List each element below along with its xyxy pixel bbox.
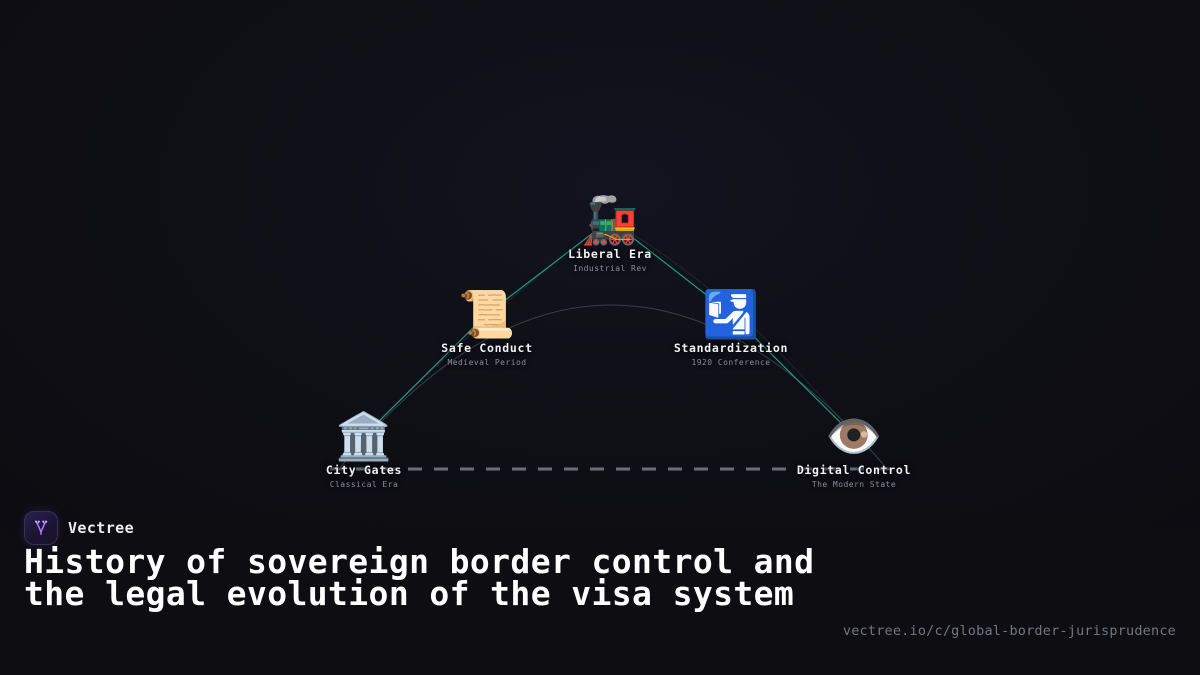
graph-node-title: Standardization bbox=[631, 343, 831, 355]
classical-building-icon: 🏛️ bbox=[264, 410, 464, 462]
graph-node-subtitle: 1920 Conference bbox=[631, 359, 831, 367]
graph-node-title: Safe Conduct bbox=[387, 343, 587, 355]
brand-name: Vectree bbox=[68, 519, 134, 537]
graph-node-subtitle: The Modern State bbox=[754, 481, 954, 489]
graph-node-city-gates[interactable]: 🏛️ City Gates Classical Era bbox=[264, 410, 464, 489]
brand-lockup[interactable]: Vectree bbox=[24, 511, 134, 545]
vectree-tree-logo-icon bbox=[24, 511, 58, 545]
graph-node-liberal-era[interactable]: 🚂 Liberal Era Industrial Rev bbox=[510, 194, 710, 273]
footer-bar: Vectree History of sovereign border cont… bbox=[0, 500, 1200, 675]
eye-icon: 👁️ bbox=[754, 410, 954, 462]
graph-node-subtitle: Medieval Period bbox=[387, 359, 587, 367]
graph-node-safe-conduct[interactable]: 📜 Safe Conduct Medieval Period bbox=[387, 288, 587, 367]
timeline-graph: 🏛️ City Gates Classical Era 📜 Safe Condu… bbox=[0, 0, 1200, 510]
scroll-icon: 📜 bbox=[387, 288, 587, 340]
footer-url: vectree.io/c/global-border-jurisprudence bbox=[843, 623, 1176, 639]
graph-node-subtitle: Industrial Rev bbox=[510, 265, 710, 273]
graph-node-standardization[interactable]: 🛂 Standardization 1920 Conference bbox=[631, 288, 831, 367]
graph-node-digital-control[interactable]: 👁️ Digital Control The Modern State bbox=[754, 410, 954, 489]
passport-control-icon: 🛂 bbox=[631, 288, 831, 340]
graph-node-subtitle: Classical Era bbox=[264, 481, 464, 489]
locomotive-icon: 🚂 bbox=[510, 194, 710, 246]
page-title: History of sovereign border control and … bbox=[24, 546, 824, 610]
graph-node-title: City Gates bbox=[264, 465, 464, 477]
graph-node-title: Digital Control bbox=[754, 465, 954, 477]
presentation-stage: 🏛️ City Gates Classical Era 📜 Safe Condu… bbox=[0, 0, 1200, 675]
graph-node-title: Liberal Era bbox=[510, 249, 710, 261]
